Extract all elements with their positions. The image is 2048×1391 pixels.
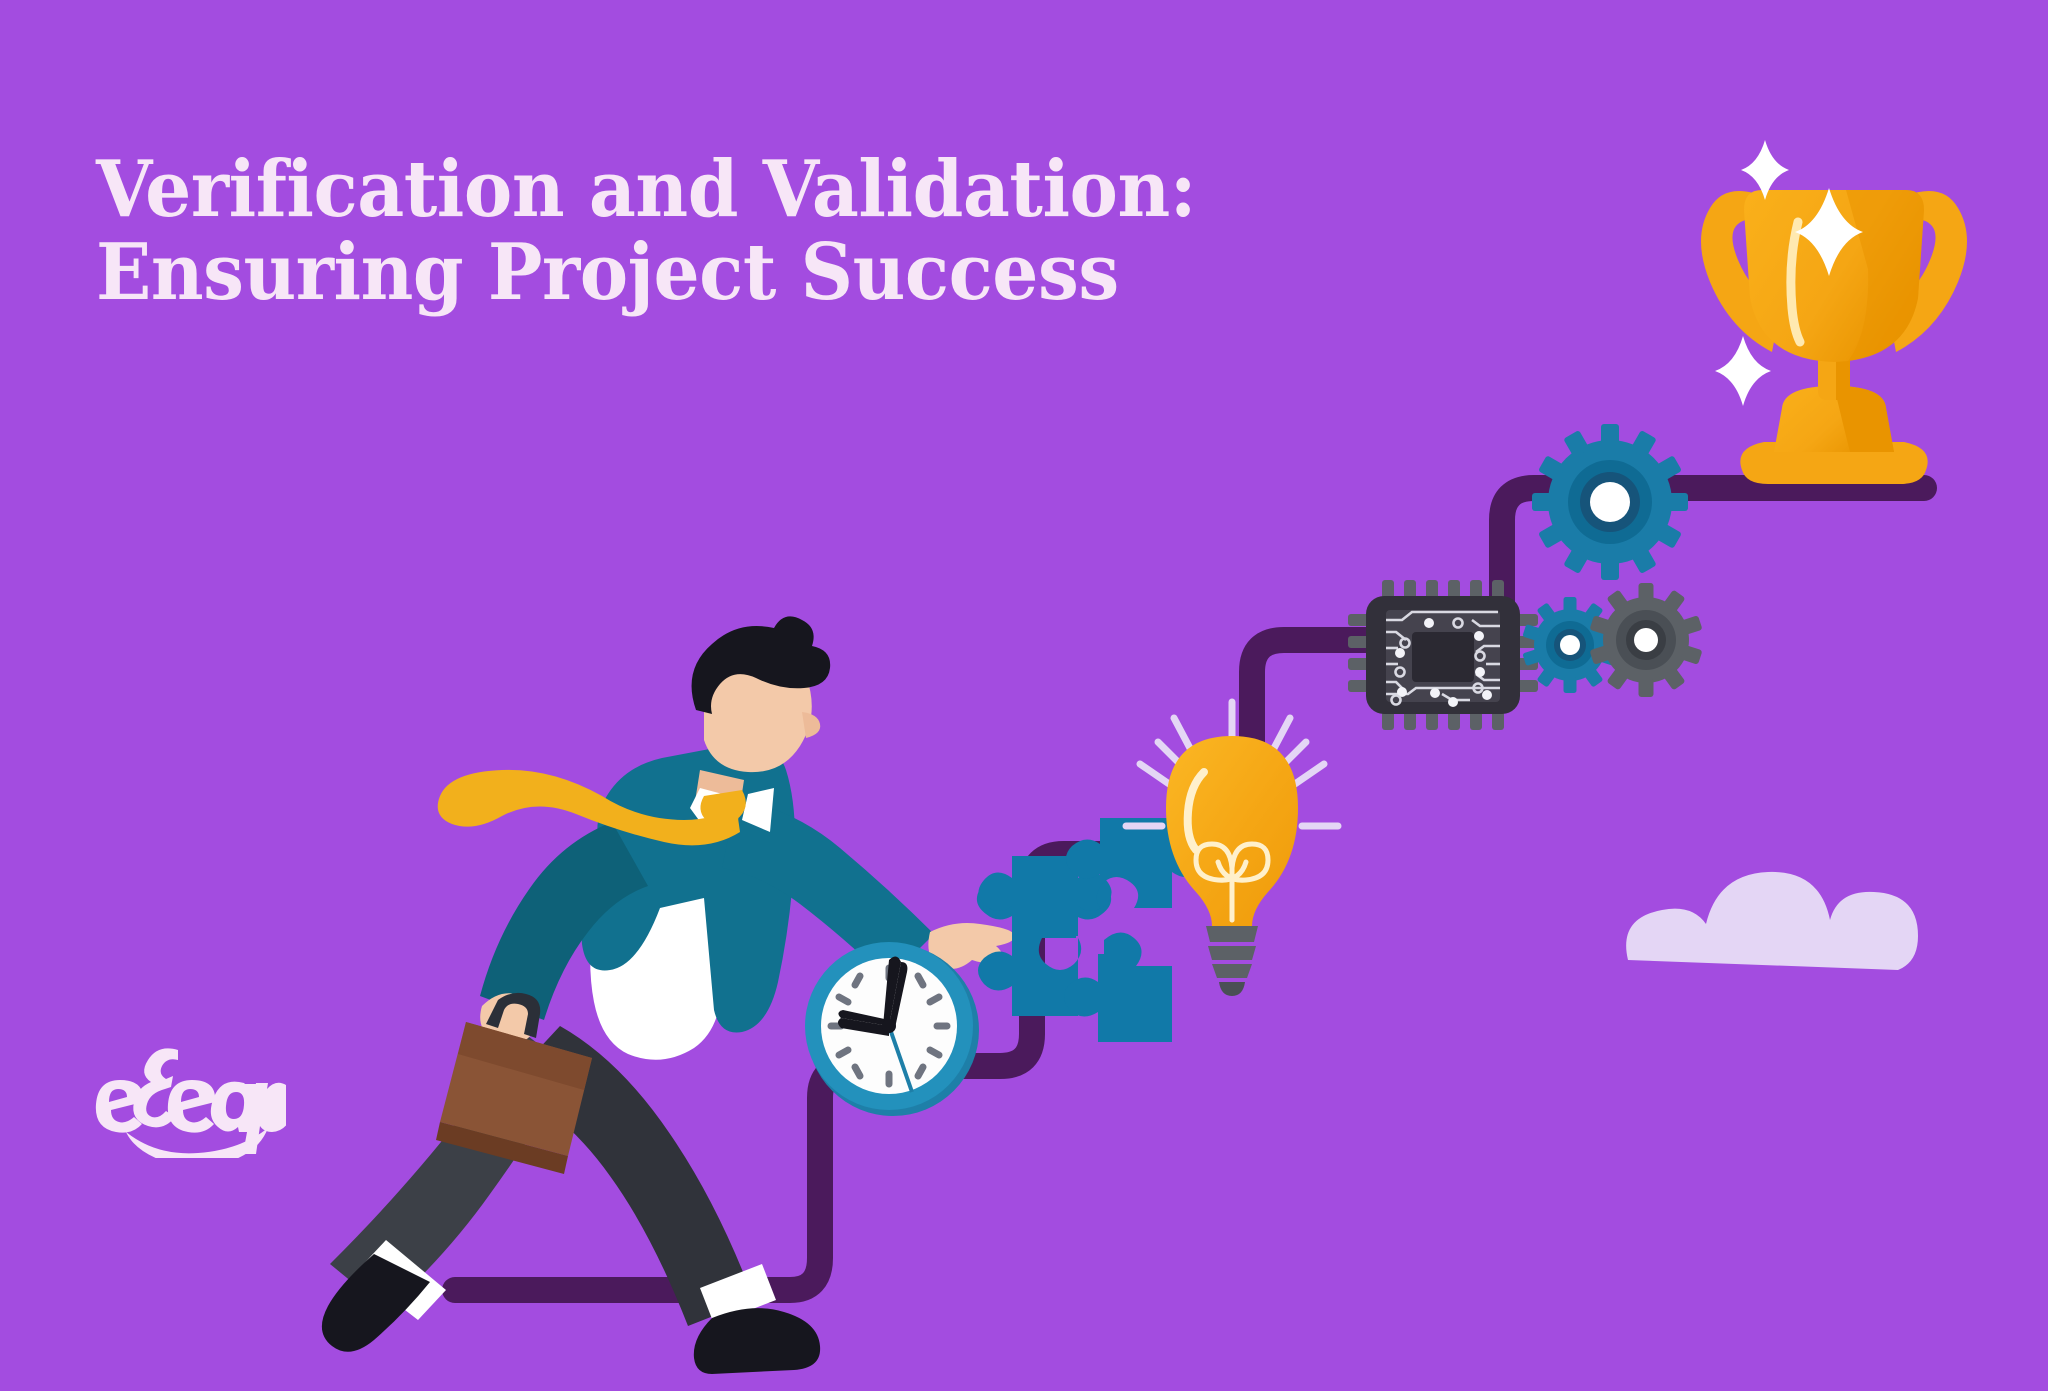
eleap-logo[interactable] [86, 1028, 286, 1158]
banner-canvas: Verification and Validation: Ensuring Pr… [0, 0, 2048, 1391]
gears-icon [1522, 424, 1702, 697]
page-title-line-2: Ensuring Project Success [96, 231, 1305, 314]
page-title-line-1: Verification and Validation: [96, 148, 1305, 231]
puzzle-pieces-icon [977, 818, 1206, 1042]
cloud-icon [1626, 872, 1918, 970]
trophy-icon [1701, 140, 1967, 484]
page-title: Verification and Validation: Ensuring Pr… [96, 148, 1396, 315]
microchip-icon [1348, 580, 1538, 730]
eleap-logo-mark [86, 1028, 286, 1158]
